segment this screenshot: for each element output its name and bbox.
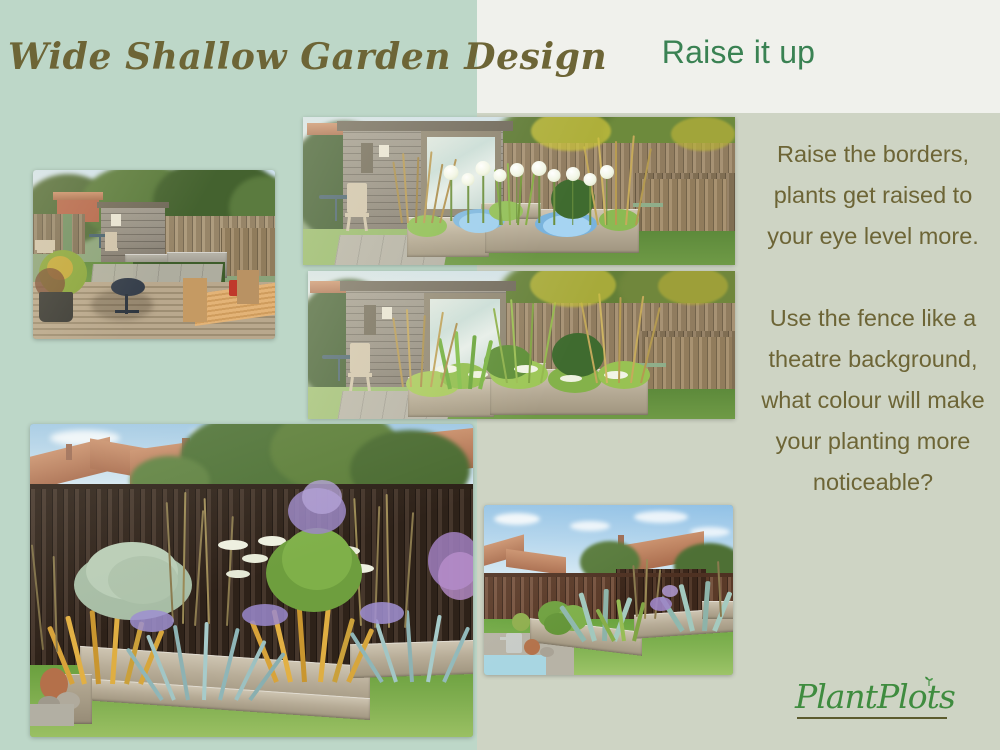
- body-text: Raise the borders, plants get raised to …: [755, 134, 991, 503]
- section-heading: Raise it up: [477, 34, 1000, 71]
- sprout-icon: [923, 675, 935, 687]
- body-paragraph-1: Raise the borders, plants get raised to …: [755, 134, 991, 257]
- garden-design-summer-photo: [308, 271, 735, 419]
- brand-logo[interactable]: PlantPlots: [795, 676, 960, 732]
- brand-logo-underline: [797, 717, 947, 719]
- garden-before-photo: [33, 170, 275, 339]
- page-title: Wide Shallow Garden Design: [8, 26, 478, 88]
- body-paragraph-2: Use the fence like a theatre background,…: [755, 298, 991, 503]
- fence-border-photo: [484, 505, 733, 675]
- brand-logo-text: PlantPlots: [795, 676, 960, 718]
- raised-border-photo: [30, 424, 473, 737]
- slide-root: Wide Shallow Garden Design Raise it up R…: [0, 0, 1000, 750]
- garden-design-spring-photo: [303, 117, 735, 265]
